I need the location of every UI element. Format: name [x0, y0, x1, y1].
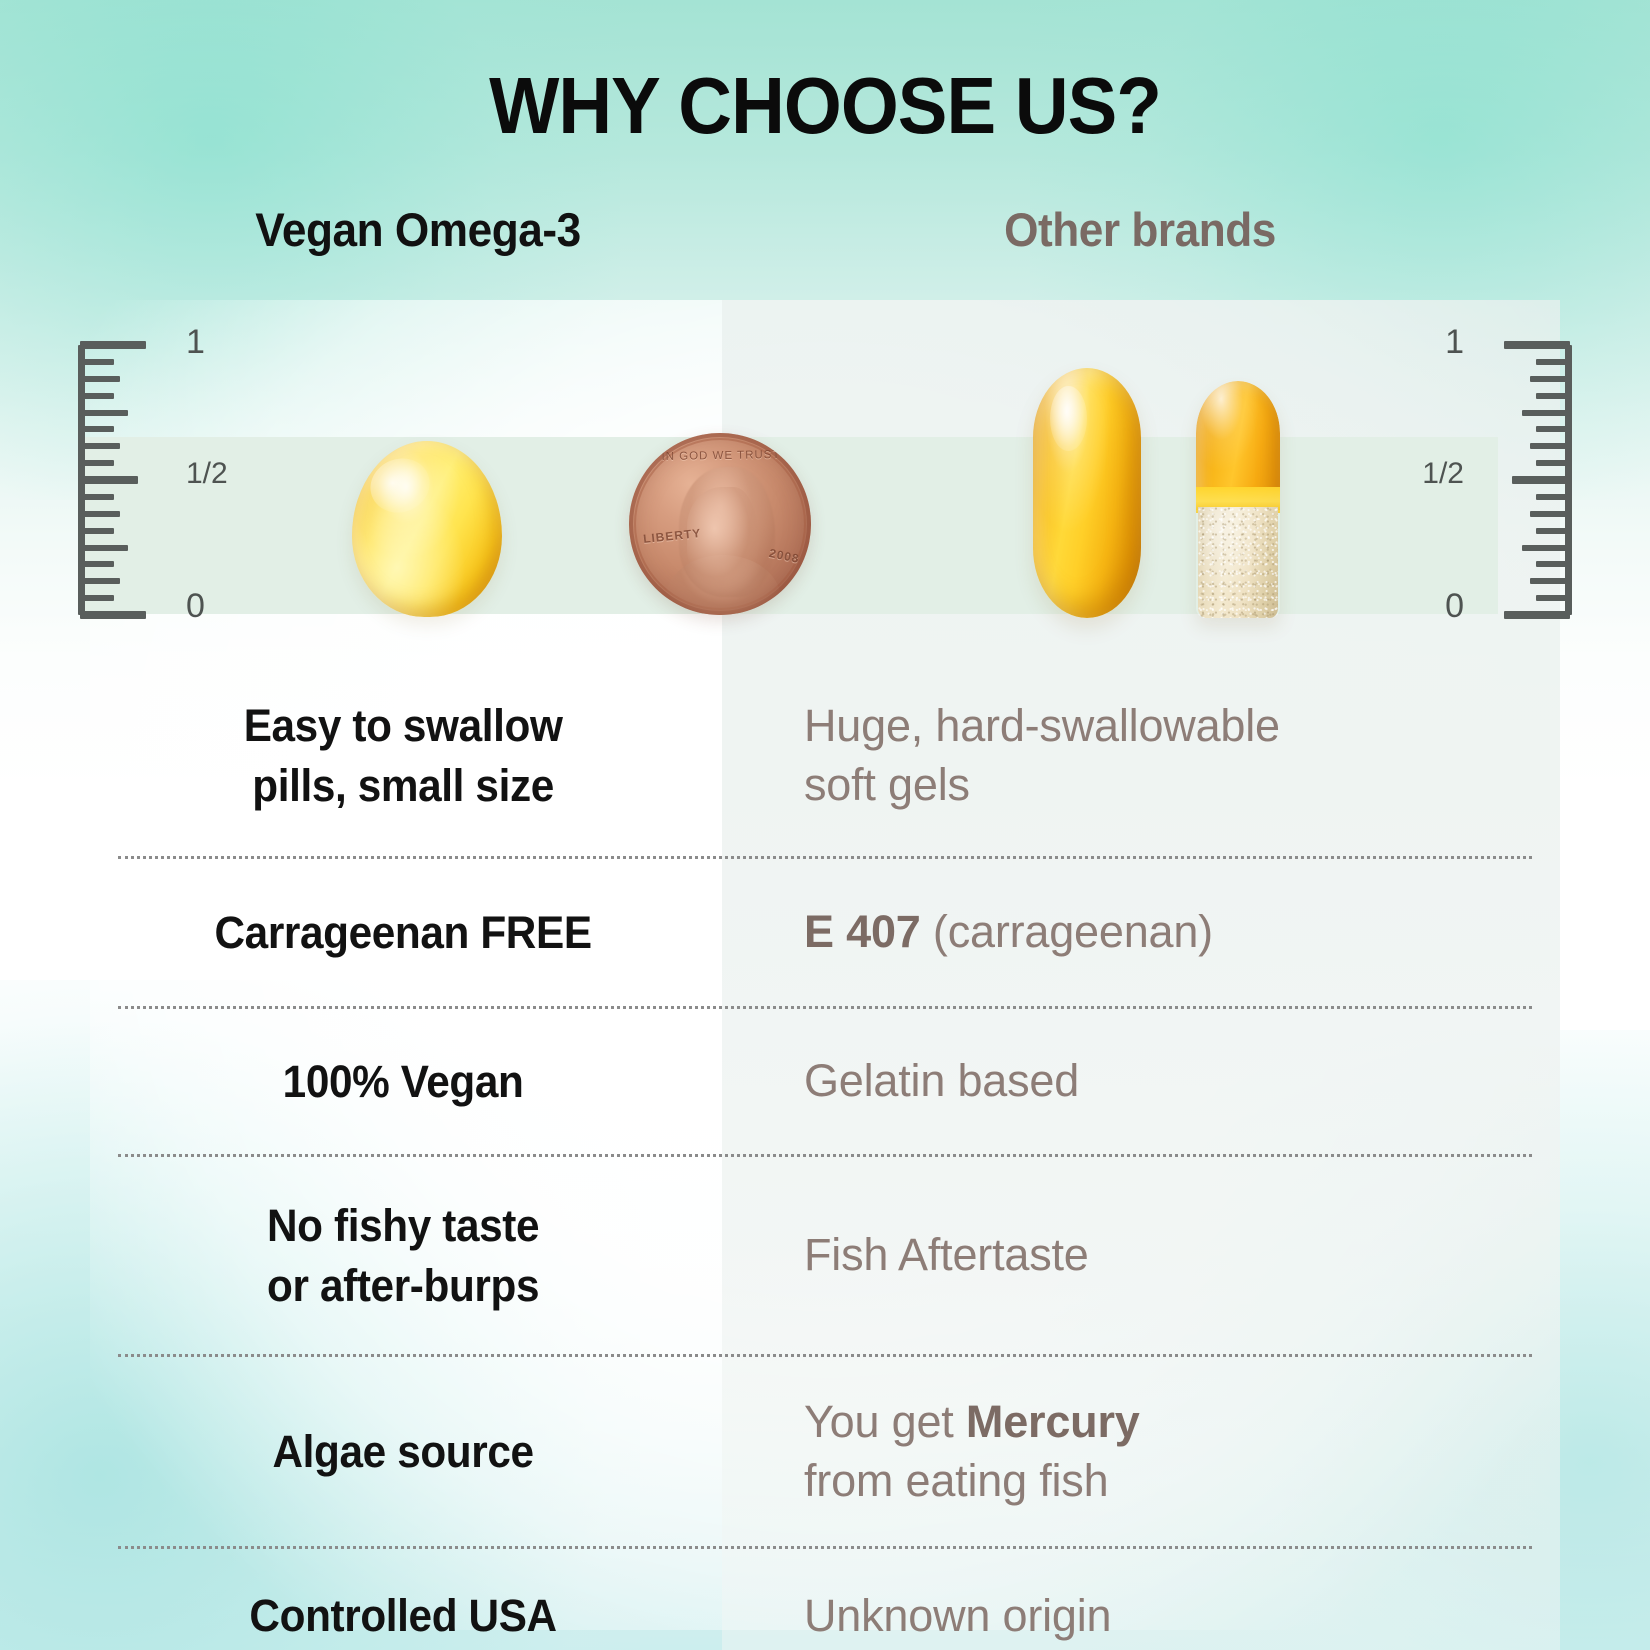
ruler-tick: [80, 611, 146, 619]
comparison-cell-theirs: You get Mercuryfrom eating fish: [722, 1393, 1532, 1510]
ruler-tick: [1504, 341, 1570, 349]
ruler-tick: [80, 393, 114, 399]
ruler-tick: [1536, 595, 1570, 601]
ruler-tick: [80, 460, 114, 466]
ruler-tick: [80, 410, 128, 416]
comparison-cell-ours: No fishy tasteor after-burps: [136, 1196, 704, 1315]
ruler-right-label-0: 0: [1445, 587, 1464, 626]
comparison-row: Controlled USAsource of Omega-3Unknown o…: [118, 1549, 1532, 1650]
ruler-left-label-half: 1/2: [186, 457, 228, 491]
comparison-row: 100% VeganGelatin based: [118, 1009, 1532, 1157]
comparison-row: Algae sourceYou get Mercuryfrom eating f…: [118, 1357, 1532, 1549]
ruler-tick: [1536, 561, 1570, 567]
ruler-tick: [1536, 460, 1570, 466]
ruler-tick: [1530, 443, 1570, 449]
ruler-tick: [1536, 359, 1570, 365]
ruler-tick: [1536, 393, 1570, 399]
comparison-emphasis: E 407: [804, 906, 921, 957]
column-heading-other-brands: Other brands: [811, 202, 1469, 257]
comparison-row: No fishy tasteor after-burpsFish Afterta…: [118, 1157, 1532, 1357]
comparison-table: Easy to swallowpills, small sizeHuge, ha…: [118, 655, 1532, 1650]
ruler-tick: [80, 511, 120, 517]
comparison-row: Carrageenan FREEE 407 (carrageenan): [118, 859, 1532, 1009]
comparison-cell-theirs: Unknown originof the fish oil: [722, 1587, 1532, 1650]
ruler-left: 1 1/2 0: [78, 345, 208, 615]
ruler-right-label-1: 1: [1445, 323, 1464, 362]
page-title: WHY CHOOSE US?: [58, 60, 1593, 152]
comparison-cell-ours: 100% Vegan: [136, 1052, 704, 1111]
ruler-right-label-half: 1/2: [1422, 457, 1464, 491]
ruler-left-label-1: 1: [186, 323, 205, 362]
comparison-cell-theirs: Huge, hard-swallowablesoft gels: [722, 697, 1532, 814]
ruler-tick: [1530, 376, 1570, 382]
comparison-row: Easy to swallowpills, small sizeHuge, ha…: [118, 655, 1532, 859]
ruler-tick: [80, 528, 114, 534]
ruler-tick: [80, 359, 114, 365]
measurement-band: [78, 437, 1498, 614]
ruler-tick: [1536, 494, 1570, 500]
column-heading-vegan-omega3: Vegan Omega-3: [136, 202, 700, 257]
ruler-tick: [80, 595, 114, 601]
ruler-tick: [80, 545, 128, 551]
comparison-cell-ours: Algae source: [136, 1422, 704, 1481]
why-choose-us-infographic: WHY CHOOSE US? Vegan Omega-3 Other brand…: [0, 0, 1650, 1650]
ruler-tick: [1522, 410, 1570, 416]
ruler-tick: [80, 443, 120, 449]
comparison-cell-ours: Controlled USAsource of Omega-3: [136, 1586, 704, 1650]
ruler-tick: [80, 494, 114, 500]
ruler-tick: [1504, 611, 1570, 619]
comparison-cell-ours: Easy to swallowpills, small size: [136, 696, 704, 815]
ruler-tick: [1530, 511, 1570, 517]
comparison-cell-ours: Carrageenan FREE: [136, 903, 704, 962]
comparison-cell-theirs: Fish Aftertaste: [722, 1226, 1532, 1285]
ruler-tick: [1512, 476, 1570, 484]
ruler-tick: [80, 578, 120, 584]
ruler-right: 1 1/2 0: [1442, 345, 1572, 615]
comparison-cell-theirs: E 407 (carrageenan): [722, 903, 1532, 962]
ruler-tick: [1536, 528, 1570, 534]
ruler-tick: [80, 426, 114, 432]
comparison-emphasis: Mercury: [966, 1396, 1140, 1447]
ruler-tick: [80, 476, 138, 484]
ruler-left-label-0: 0: [186, 587, 205, 626]
ruler-tick: [80, 341, 146, 349]
ruler-tick: [80, 376, 120, 382]
ruler-tick: [1522, 545, 1570, 551]
ruler-tick: [1536, 426, 1570, 432]
ruler-tick: [80, 561, 114, 567]
comparison-cell-theirs: Gelatin based: [722, 1052, 1532, 1111]
ruler-tick: [1530, 578, 1570, 584]
